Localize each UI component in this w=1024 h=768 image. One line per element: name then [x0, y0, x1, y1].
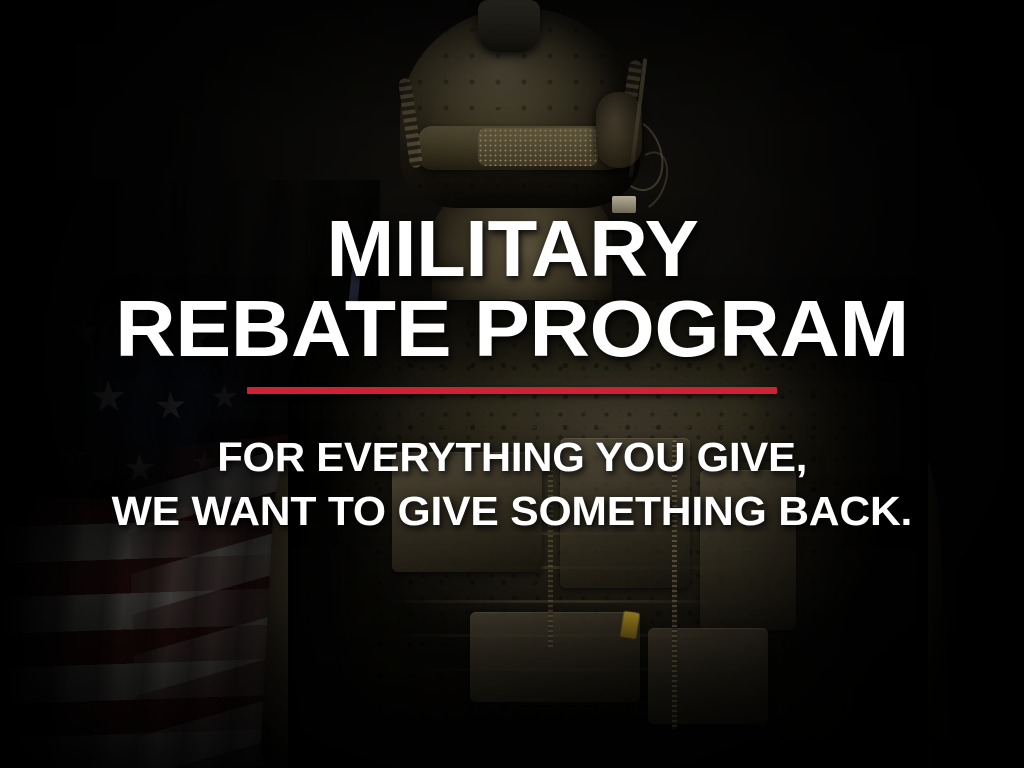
red-divider-rule [247, 387, 777, 394]
text-overlay: MILITARY REBATE PROGRAM FOR EVERYTHING Y… [0, 0, 1024, 768]
subhead-line-2: WE WANT TO GIVE SOMETHING BACK. [112, 486, 913, 536]
military-rebate-banner: MILITARY REBATE PROGRAM FOR EVERYTHING Y… [0, 0, 1024, 768]
subhead-line-1: FOR EVERYTHING YOU GIVE, [217, 432, 807, 482]
headline-line-1: MILITARY [326, 212, 698, 286]
headline-line-2: REBATE PROGRAM [115, 292, 909, 366]
